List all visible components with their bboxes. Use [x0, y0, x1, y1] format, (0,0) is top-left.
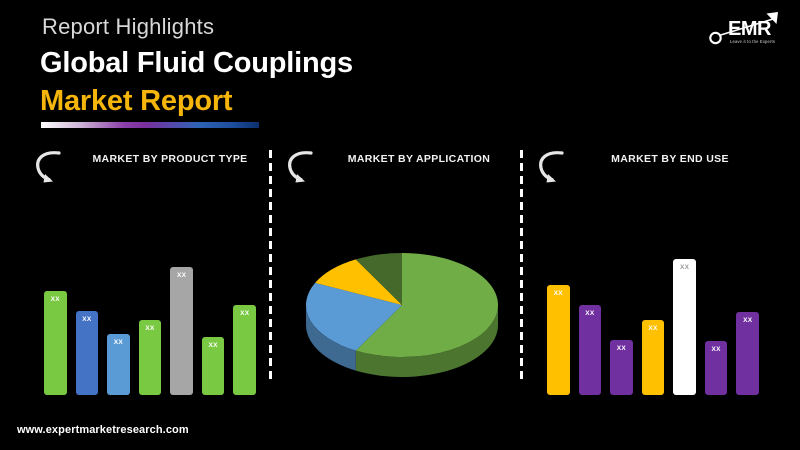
bar-6: XX [202, 337, 225, 395]
bar-value-label: XX [139, 325, 162, 332]
bar-value-label: XX [202, 342, 225, 349]
emr-logo-tagline: Leave it to the Experts [730, 39, 775, 44]
bar-value-label: XX [233, 310, 256, 317]
bar-value-label: XX [547, 290, 570, 297]
bar-7: XX [233, 305, 256, 395]
panel-3-title: MARKET BY END USE [567, 153, 773, 165]
bar-value-label: XX [642, 325, 665, 332]
bar-value-label: XX [76, 316, 99, 323]
bar-1: XX [547, 285, 570, 395]
pie-chart-svg [292, 247, 512, 387]
title-underline-gradient [41, 122, 259, 128]
bar-value-label: XX [736, 317, 759, 324]
bar-2: XX [76, 311, 99, 395]
emr-logo-text: EMR [728, 18, 771, 41]
bar-3: XX [610, 340, 633, 395]
panel-2-title: MARKET BY APPLICATION [316, 153, 522, 165]
bar-chart-product-type: XXXXXXXXXXXXXX [30, 250, 270, 395]
bar-4: XX [642, 320, 665, 395]
bar-value-label: XX [610, 345, 633, 352]
emr-logo[interactable]: EMR Leave it to the Experts [706, 10, 786, 54]
bar-value-label: XX [579, 310, 602, 317]
curved-arrow-icon [34, 147, 68, 183]
header: Report Highlights Global Fluid Couplings… [0, 0, 800, 140]
curved-arrow-icon [537, 147, 571, 183]
panel-market-by-application: MARKET BY APPLICATION [282, 145, 522, 395]
panel-2-header: MARKET BY APPLICATION [282, 145, 522, 191]
bar-7: XX [736, 312, 759, 395]
page-title: Global Fluid Couplings [40, 47, 353, 80]
panel-3-header: MARKET BY END USE [533, 145, 773, 191]
bar-value-label: XX [107, 339, 130, 346]
footer-website-url[interactable]: www.expertmarketresearch.com [17, 424, 189, 436]
panel-market-by-end-use: MARKET BY END USE XXXXXXXXXXXXXX [533, 145, 773, 395]
panel-1-title: MARKET BY PRODUCT TYPE [70, 153, 270, 165]
bar-3: XX [107, 334, 130, 395]
bar-6: XX [705, 341, 728, 395]
bar-value-label: XX [44, 296, 67, 303]
bar-5: XX [170, 267, 193, 395]
bar-value-label: XX [705, 346, 728, 353]
bar-chart-end-use: XXXXXXXXXXXXXX [533, 250, 773, 395]
curved-arrow-icon [286, 147, 320, 183]
bar-5: XX [673, 259, 696, 395]
panel-market-by-product-type: MARKET BY PRODUCT TYPE XXXXXXXXXXXXXX [30, 145, 270, 395]
bar-value-label: XX [170, 272, 193, 279]
page-subtitle: Market Report [40, 85, 232, 118]
panel-1-header: MARKET BY PRODUCT TYPE [30, 145, 270, 191]
bar-2: XX [579, 305, 602, 395]
bar-value-label: XX [673, 264, 696, 271]
bar-4: XX [139, 320, 162, 395]
report-eyebrow: Report Highlights [42, 14, 214, 40]
pie-chart-application [292, 247, 512, 387]
bar-1: XX [44, 291, 67, 395]
